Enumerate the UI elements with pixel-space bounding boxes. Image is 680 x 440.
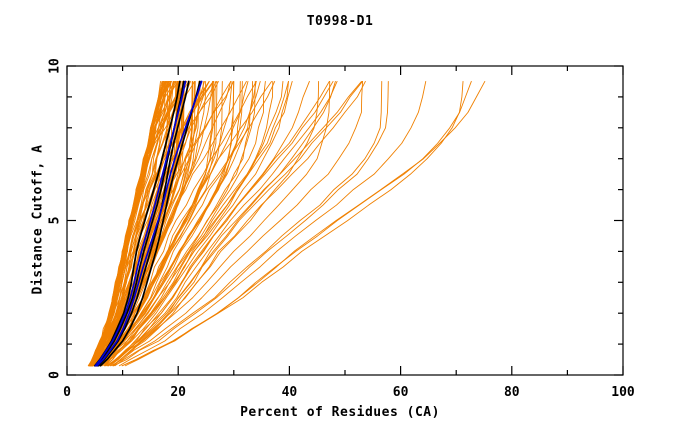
x-tick-label: 40 [282, 385, 298, 400]
y-tick-label: 10 [48, 58, 63, 74]
plot-area: 0204060801000510 [0, 0, 680, 440]
x-tick-label: 60 [393, 385, 409, 400]
y-tick-label: 0 [48, 371, 63, 379]
curve-group [88, 81, 485, 365]
figure-canvas: T0998-D1 Percent of Residues (CA) Distan… [0, 0, 680, 440]
x-tick-label: 0 [63, 385, 71, 400]
y-tick-label: 5 [48, 217, 63, 225]
x-tick-label: 100 [611, 385, 635, 400]
x-tick-label: 20 [170, 385, 186, 400]
x-tick-label: 80 [504, 385, 520, 400]
